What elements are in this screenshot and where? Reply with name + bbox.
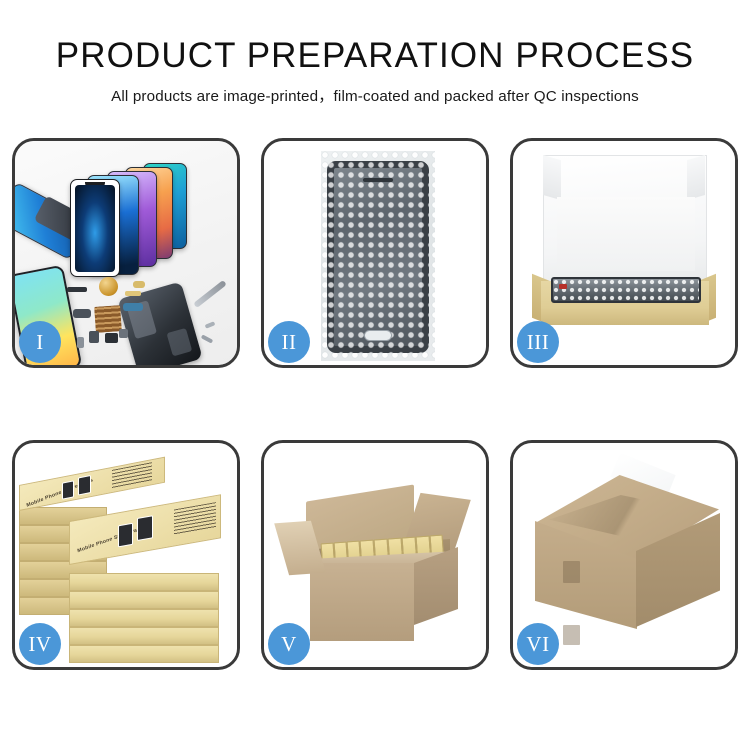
retail-box-side xyxy=(69,645,219,663)
tweezers-icon xyxy=(193,280,227,308)
camera-module-icon xyxy=(105,333,118,343)
earpiece-speaker-icon xyxy=(363,178,393,182)
process-step-4[interactable]: Mobile Phone Spare Parts Mobile Phone Sp… xyxy=(12,440,240,670)
carton-tab-icon xyxy=(563,561,580,583)
taptic-engine-icon xyxy=(73,309,91,318)
process-step-3[interactable]: III xyxy=(510,138,738,368)
process-step-6[interactable]: VI xyxy=(510,440,738,670)
retail-box-side xyxy=(69,627,219,645)
box-lid-left-flap-icon xyxy=(543,155,561,200)
ribbon-cable-icon xyxy=(123,303,143,311)
retail-box-top: Mobile Phone Spare Parts xyxy=(69,494,221,565)
step-4-badge: IV xyxy=(19,623,61,665)
connector-gold-icon xyxy=(133,281,145,288)
retail-box-phone-image xyxy=(78,475,91,496)
retail-box-spec-lines xyxy=(112,462,152,490)
process-step-2[interactable]: II xyxy=(261,138,489,368)
small-bracket-icon xyxy=(77,337,84,348)
home-button-icon xyxy=(364,330,392,341)
step-5-badge: V xyxy=(268,623,310,665)
packed-screen-icon xyxy=(551,277,701,303)
box-lid-right-flap-icon xyxy=(687,155,705,200)
process-step-5[interactable]: V xyxy=(261,440,489,670)
retail-box-phone-image xyxy=(118,523,133,548)
button-part-icon xyxy=(119,329,128,338)
step-2-badge: II xyxy=(268,321,310,363)
foam-insert-icon xyxy=(557,197,695,271)
step-1-badge: I xyxy=(19,321,61,363)
page-subtitle: All products are image-printed，film-coat… xyxy=(0,84,750,106)
phone-notch-icon xyxy=(85,182,105,187)
screw-icon xyxy=(201,334,213,343)
header: PRODUCT PREPARATION PROCESS All products… xyxy=(0,36,750,106)
carton-front-face-icon xyxy=(310,563,414,641)
retail-box-phone-image xyxy=(137,515,153,541)
screw-small-icon xyxy=(205,321,216,328)
retail-box-side xyxy=(69,609,219,627)
carton-tab-icon xyxy=(563,625,580,645)
sim-tray-icon xyxy=(89,331,99,343)
phone-display-front-icon xyxy=(70,179,120,277)
product-preparation-infographic: PRODUCT PREPARATION PROCESS All products… xyxy=(0,0,750,750)
process-step-1[interactable]: I xyxy=(12,138,240,368)
flex-cable-icon xyxy=(67,287,87,292)
retail-box-top: Mobile Phone Spare Parts xyxy=(19,457,165,511)
retail-box-phone-image xyxy=(62,480,74,499)
step-3-badge: III xyxy=(517,321,559,363)
connector-strip-icon xyxy=(125,291,141,296)
speaker-module-icon xyxy=(99,277,118,296)
step-6-badge: VI xyxy=(517,623,559,665)
retail-box-side xyxy=(69,591,219,609)
wrapped-screen-icon xyxy=(327,161,429,353)
process-step-grid: I II II xyxy=(12,138,738,670)
retail-box-label: Mobile Phone Spare Parts xyxy=(77,525,145,554)
screw-grid-icon xyxy=(94,305,122,333)
retail-box-spec-lines xyxy=(174,502,216,535)
retail-box-side xyxy=(69,573,219,591)
page-title: PRODUCT PREPARATION PROCESS xyxy=(0,36,750,76)
